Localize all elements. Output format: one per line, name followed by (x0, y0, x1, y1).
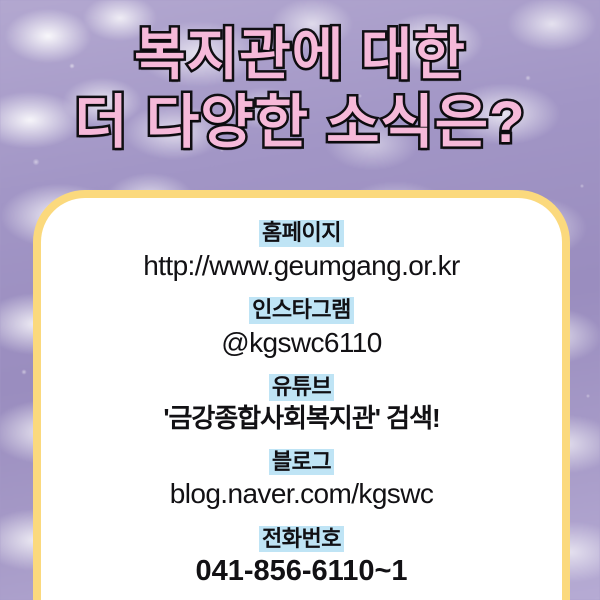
contact-entry-youtube: 유튜브 '금강종합사회복지관' 검색! (59, 374, 544, 433)
contact-label-blog: 블로그 (269, 449, 334, 476)
contact-label-instagram: 인스타그램 (249, 297, 354, 324)
contact-entry-phone: 전화번호 041-856-6110~1 (59, 526, 544, 588)
contact-card: 홈페이지 http://www.geumgang.or.kr 인스타그램 @kg… (33, 190, 570, 600)
page-title: 복지관에 대한 더 다양한 소식은? (0, 26, 600, 154)
poster-canvas: 복지관에 대한 더 다양한 소식은? 홈페이지 http://www.geumg… (0, 0, 600, 600)
title-line-2: 더 다양한 소식은? (0, 93, 600, 154)
contact-entry-homepage: 홈페이지 http://www.geumgang.or.kr (59, 220, 544, 281)
contact-list: 홈페이지 http://www.geumgang.or.kr 인스타그램 @kg… (41, 198, 562, 588)
title-line-1: 복지관에 대한 (0, 26, 600, 85)
contact-value-blog[interactable]: blog.naver.com/kgswc (59, 478, 544, 509)
contact-value-instagram[interactable]: @kgswc6110 (59, 327, 544, 358)
contact-value-homepage[interactable]: http://www.geumgang.or.kr (59, 250, 544, 281)
contact-value-youtube[interactable]: '금강종합사회복지관' 검색! (59, 404, 544, 433)
contact-label-homepage: 홈페이지 (259, 220, 344, 247)
contact-entry-instagram: 인스타그램 @kgswc6110 (59, 297, 544, 358)
contact-value-phone[interactable]: 041-856-6110~1 (59, 555, 544, 587)
contact-entry-blog: 블로그 blog.naver.com/kgswc (59, 449, 544, 510)
contact-label-phone: 전화번호 (259, 526, 344, 553)
contact-label-youtube: 유튜브 (269, 374, 334, 401)
